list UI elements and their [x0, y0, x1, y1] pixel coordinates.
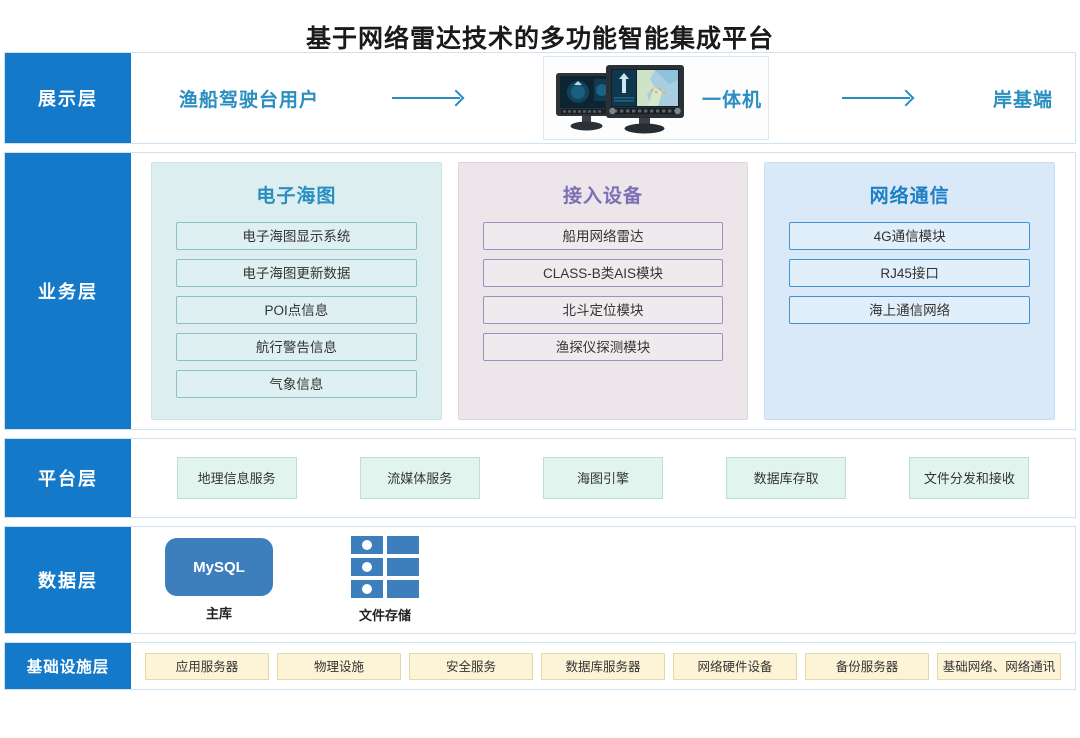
platform-items: 地理信息服务 流媒体服务 海图引擎 数据库存取 文件分发和接收 — [131, 457, 1075, 499]
layer-body-infrastructure: 应用服务器 物理设施 安全服务 数据库服务器 网络硬件设备 备份服务器 基础网络… — [131, 643, 1075, 689]
layer-business: 业务层 电子海图 电子海图显示系统 电子海图更新数据 POI点信息 航行警告信息… — [4, 152, 1076, 430]
biz-item[interactable]: 北斗定位模块 — [483, 296, 724, 324]
infra-item[interactable]: 安全服务 — [409, 653, 533, 680]
data-units: MySQL 主库 文件存储 — [131, 536, 1075, 624]
layer-data: 数据层 MySQL 主库 文件存储 — [4, 526, 1076, 634]
database-icon[interactable]: MySQL — [165, 538, 273, 596]
data-unit-file-storage[interactable]: 文件存储 — [351, 536, 419, 624]
panel-title-electronic-chart: 电子海图 — [176, 181, 417, 208]
biz-item[interactable]: 渔探仪探测模块 — [483, 333, 724, 361]
panel-access-device: 接入设备 船用网络雷达 CLASS-B类AIS模块 北斗定位模块 渔探仪探测模块 — [458, 162, 749, 420]
layer-body-data: MySQL 主库 文件存储 — [131, 527, 1075, 633]
data-unit-caption: 文件存储 — [359, 605, 411, 624]
layer-label-platform: 平台层 — [5, 439, 131, 517]
layer-body-display: 渔船驾驶台用户 — [131, 53, 1075, 143]
right-arrow-icon-1 — [392, 89, 470, 107]
biz-item[interactable]: 电子海图显示系统 — [176, 222, 417, 250]
platform-item[interactable]: 流媒体服务 — [360, 457, 480, 499]
biz-item[interactable]: 电子海图更新数据 — [176, 259, 417, 287]
layer-platform: 平台层 地理信息服务 流媒体服务 海图引擎 数据库存取 文件分发和接收 — [4, 438, 1076, 518]
page-title: 基于网络雷达技术的多功能智能集成平台 — [0, 0, 1080, 52]
biz-item[interactable]: 4G通信模块 — [789, 222, 1030, 250]
biz-item[interactable]: 海上通信网络 — [789, 296, 1030, 324]
layer-label-data: 数据层 — [5, 527, 131, 633]
layer-body-business: 电子海图 电子海图显示系统 电子海图更新数据 POI点信息 航行警告信息 气象信… — [131, 153, 1075, 429]
platform-item[interactable]: 海图引擎 — [543, 457, 663, 499]
infra-item[interactable]: 备份服务器 — [805, 653, 929, 680]
integrated-machine-figure: 一体机 — [543, 56, 769, 140]
integrated-machine-label: 一体机 — [702, 85, 762, 112]
panel-title-access-device: 接入设备 — [483, 181, 724, 208]
layer-display: 展示层 渔船驾驶台用户 — [4, 52, 1076, 144]
biz-item[interactable]: RJ45接口 — [789, 259, 1030, 287]
display-shore-label: 岸基端 — [993, 85, 1053, 112]
biz-item[interactable]: CLASS-B类AIS模块 — [483, 259, 724, 287]
infra-item[interactable]: 基础网络、网络通讯 — [937, 653, 1061, 680]
biz-item[interactable]: 航行警告信息 — [176, 333, 417, 361]
platform-item[interactable]: 文件分发和接收 — [909, 457, 1029, 499]
infra-item[interactable]: 网络硬件设备 — [673, 653, 797, 680]
platform-item[interactable]: 地理信息服务 — [177, 457, 297, 499]
file-storage-icon[interactable] — [351, 536, 419, 598]
panel-title-network-communication: 网络通信 — [789, 181, 1030, 208]
right-arrow-icon-2 — [842, 89, 920, 107]
data-unit-mysql[interactable]: MySQL 主库 — [165, 538, 273, 622]
infra-item[interactable]: 物理设施 — [277, 653, 401, 680]
layer-label-business: 业务层 — [5, 153, 131, 429]
platform-item[interactable]: 数据库存取 — [726, 457, 846, 499]
display-flow-row: 渔船驾驶台用户 — [131, 56, 1075, 140]
data-unit-caption: 主库 — [206, 603, 232, 622]
biz-item[interactable]: 船用网络雷达 — [483, 222, 724, 250]
infra-item[interactable]: 应用服务器 — [145, 653, 269, 680]
layer-infrastructure: 基础设施层 应用服务器 物理设施 安全服务 数据库服务器 网络硬件设备 备份服务… — [4, 642, 1076, 690]
biz-item[interactable]: POI点信息 — [176, 296, 417, 324]
layer-label-infrastructure: 基础设施层 — [5, 643, 131, 689]
marine-monitor-icon — [550, 61, 700, 135]
panel-electronic-chart: 电子海图 电子海图显示系统 电子海图更新数据 POI点信息 航行警告信息 气象信… — [151, 162, 442, 420]
layer-label-display: 展示层 — [5, 53, 131, 143]
infra-item[interactable]: 数据库服务器 — [541, 653, 665, 680]
biz-item[interactable]: 气象信息 — [176, 370, 417, 398]
panel-network-communication: 网络通信 4G通信模块 RJ45接口 海上通信网络 — [764, 162, 1055, 420]
layer-body-platform: 地理信息服务 流媒体服务 海图引擎 数据库存取 文件分发和接收 — [131, 439, 1075, 517]
infrastructure-items: 应用服务器 物理设施 安全服务 数据库服务器 网络硬件设备 备份服务器 基础网络… — [131, 653, 1075, 680]
business-panels: 电子海图 电子海图显示系统 电子海图更新数据 POI点信息 航行警告信息 气象信… — [131, 152, 1075, 430]
display-user-label: 渔船驾驶台用户 — [179, 85, 319, 112]
